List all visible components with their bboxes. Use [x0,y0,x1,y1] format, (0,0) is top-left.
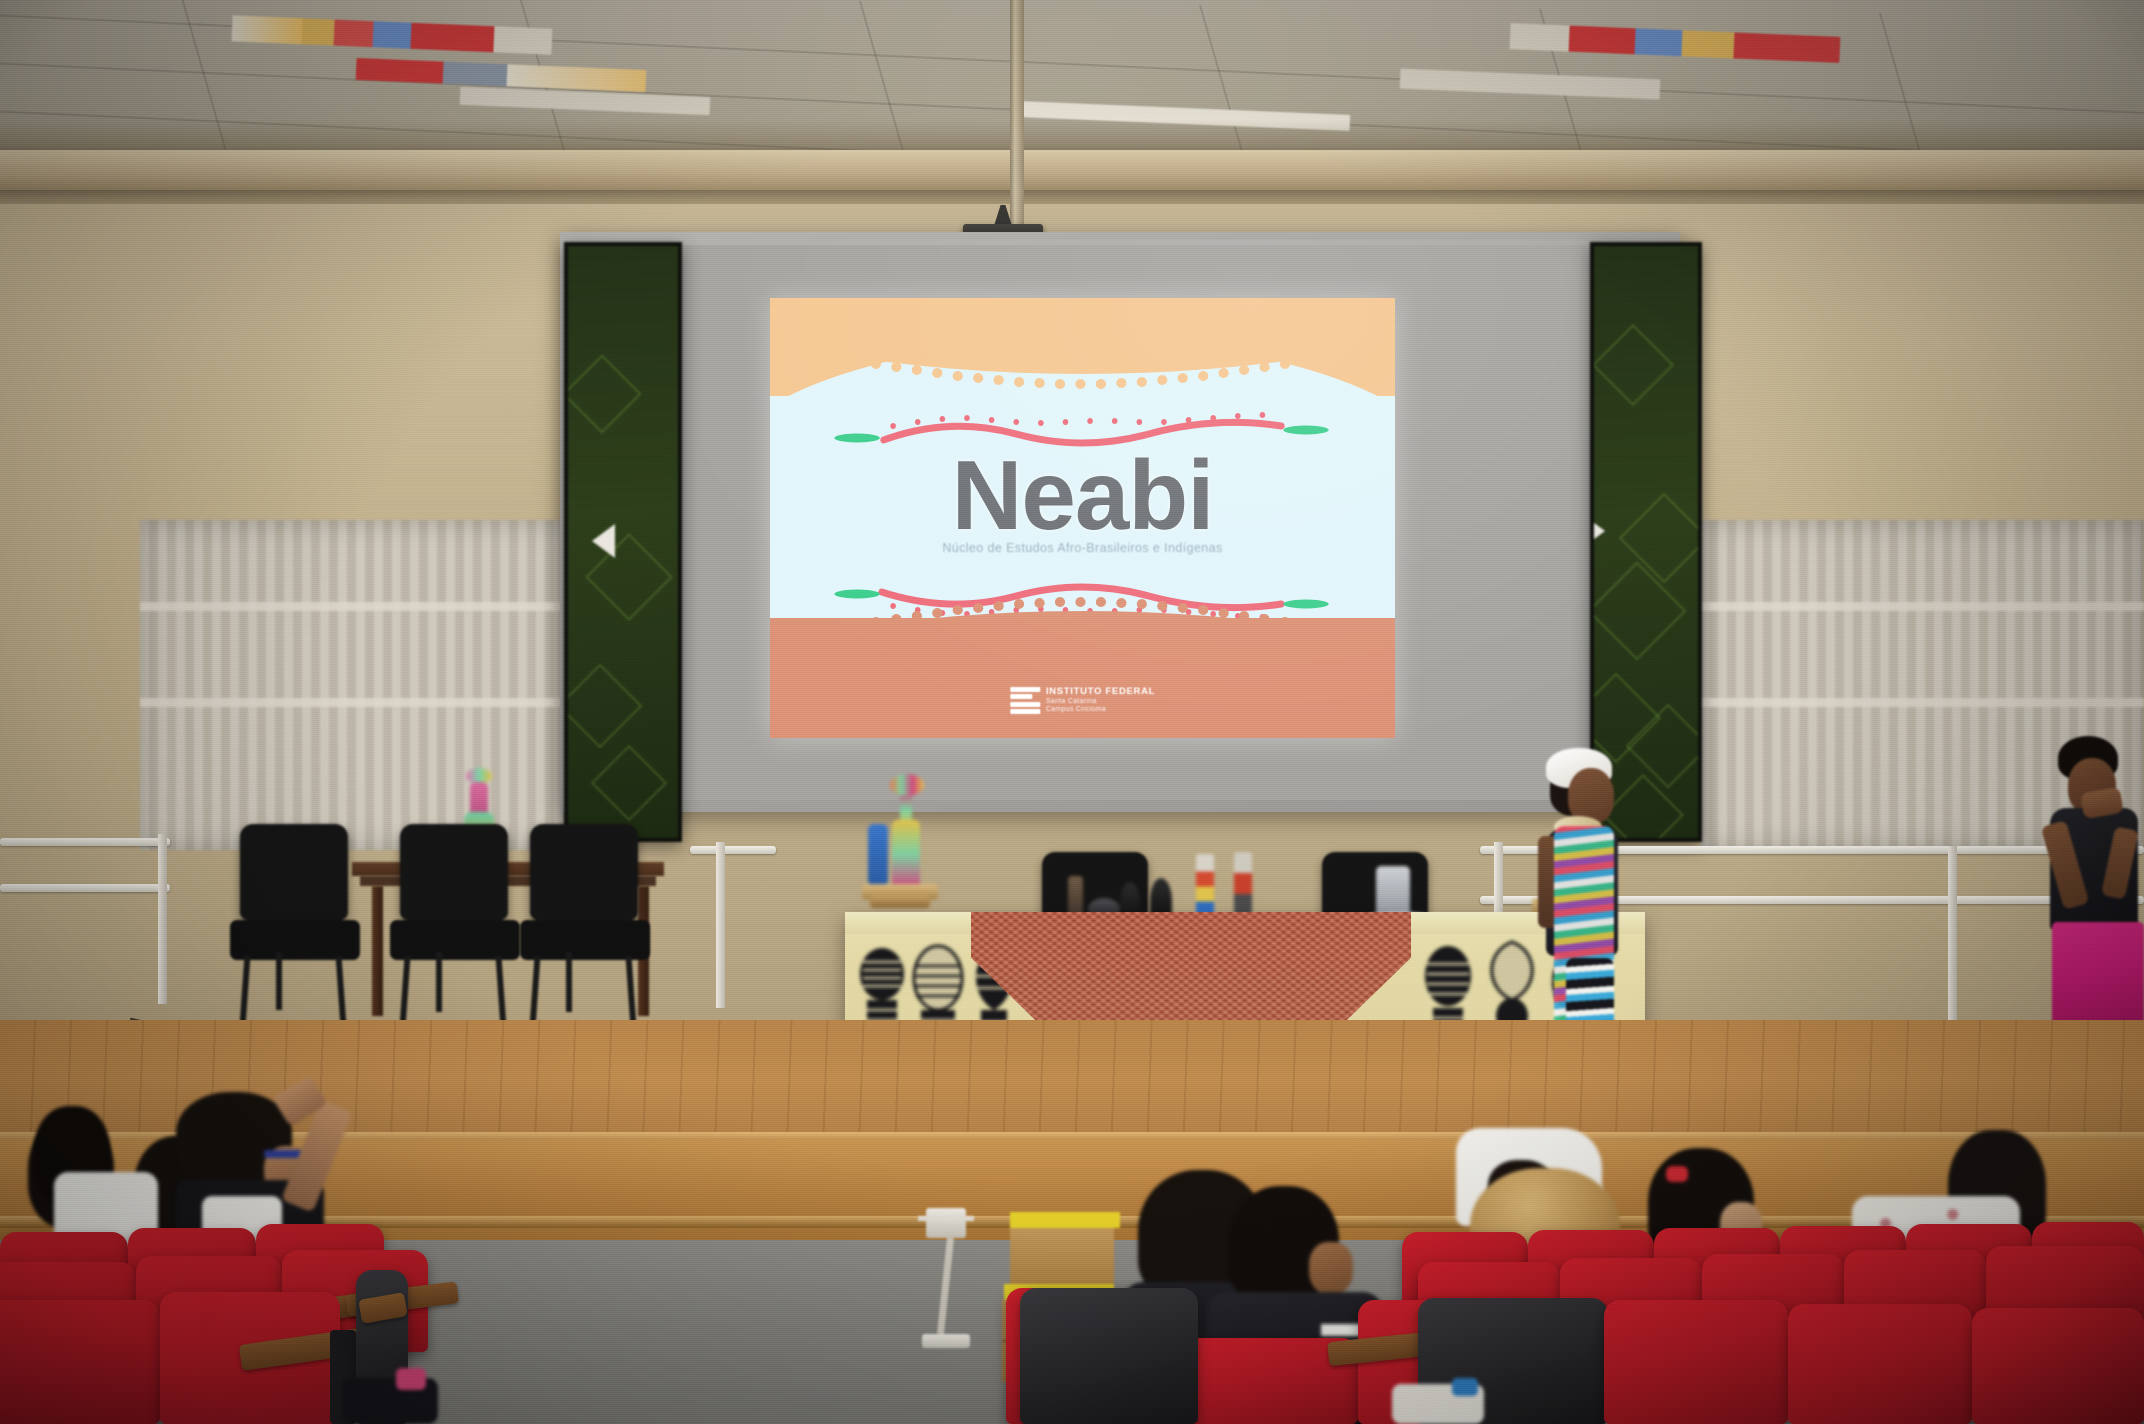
slide-scallop-bottom [770,576,1395,656]
instituto-federal-logo: INSTITUTO FEDERAL Santa Catarina Campus … [1010,687,1155,715]
audience-person [30,1116,160,1246]
wall-beam-shadow [0,190,2144,204]
slide-band-top [770,298,1395,396]
floor-outlet-box [918,1208,974,1388]
if-logo-line1: INSTITUTO FEDERAL [1046,687,1155,698]
table-leg [372,886,383,1016]
ceiling-light [460,87,711,115]
slide-title: Neabi [770,446,1395,544]
stage-rail [0,884,170,892]
wall-beam [0,150,2144,190]
stage-rail-post [716,842,725,1008]
chair [520,824,650,1024]
hair-tie [1666,1166,1688,1182]
stage-rail [0,838,170,846]
stage-rail-post [1948,846,1957,1026]
audience-seat [1972,1308,2144,1424]
banner-left [564,242,682,842]
if-logo-bars [1010,687,1040,715]
slide-subtitle: Núcleo de Estudos Afro-Brasileiros e Ind… [770,541,1395,555]
ceiling-light [232,15,553,54]
ceiling-light [1400,69,1661,100]
if-logo-line2: Santa Catarina [1046,698,1155,706]
face [1309,1242,1353,1294]
stage-rail-post [158,834,167,1004]
projector-pole [1010,0,1024,228]
ceiling-light [1510,23,1841,63]
slide-band-bottom: INSTITUTO FEDERAL Santa Catarina Campus … [770,618,1395,738]
if-logo-line3: Campus Criciúma [1046,706,1155,714]
window-blinds-left [140,520,570,850]
slide-scallop-top [770,334,1395,396]
pedestal-sculpture-left [856,790,942,920]
bag [342,1368,438,1424]
auditorium-photo: Neabi Núcleo de Estudos Afro-Brasileiros… [0,0,2144,1424]
chair [230,824,360,1024]
bag [1392,1378,1484,1424]
chair [390,824,520,1024]
audience-seat [1604,1300,1788,1424]
audience-seat [1020,1288,1198,1424]
presentation-slide: Neabi Núcleo de Estudos Afro-Brasileiros… [770,298,1395,738]
audience-seat [1788,1304,1972,1424]
audience-seat [0,1300,160,1424]
stage-rail [690,846,776,854]
